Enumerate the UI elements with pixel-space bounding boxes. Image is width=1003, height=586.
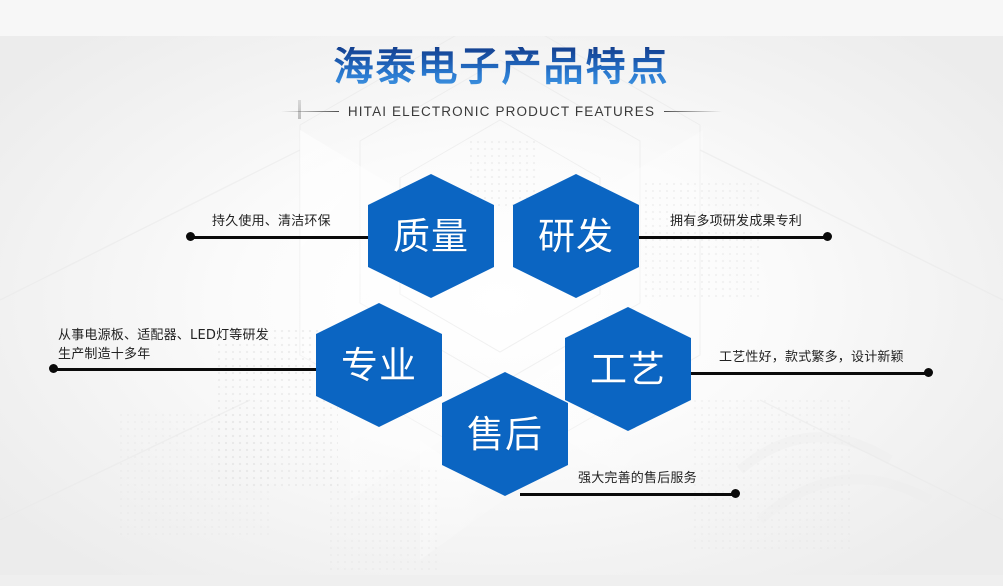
connector-line-service xyxy=(520,493,737,496)
caption-professional-line2: 生产制造十多年 xyxy=(58,345,269,364)
subtitle-rule-left xyxy=(281,111,339,112)
caption-professional: 从事电源板、适配器、LED灯等研发 生产制造十多年 xyxy=(58,326,269,364)
hexagon-professional[interactable]: 专业 xyxy=(316,303,442,427)
connector-dot-craft xyxy=(924,368,933,377)
caption-service: 强大完善的售后服务 xyxy=(578,470,697,488)
connector-dot-service xyxy=(731,489,740,498)
feature-diagram-canvas: 海泰电子产品特点 HITAI ELECTRONIC PRODUCT FEATUR… xyxy=(0,0,1003,586)
hexagon-craft[interactable]: 工艺 xyxy=(565,307,691,431)
caption-rnd: 拥有多项研发成果专利 xyxy=(670,213,802,231)
caption-craft: 工艺性好，款式繁多，设计新颖 xyxy=(719,349,904,367)
hexagon-label-rnd: 研发 xyxy=(538,218,614,255)
page-subtitle: HITAI ELECTRONIC PRODUCT FEATURES xyxy=(348,104,655,119)
connector-dot-quality xyxy=(186,232,195,241)
connector-line-professional xyxy=(57,368,337,371)
hexagon-label-service: 售后 xyxy=(467,416,543,453)
hexagon-rnd[interactable]: 研发 xyxy=(513,174,639,298)
subtitle-row: HITAI ELECTRONIC PRODUCT FEATURES xyxy=(0,104,1003,119)
hexagon-service[interactable]: 售后 xyxy=(442,372,568,496)
caption-quality: 持久使用、清洁环保 xyxy=(212,213,331,231)
hexagon-label-quality: 质量 xyxy=(393,218,469,255)
connector-dot-professional xyxy=(49,364,58,373)
subtitle-rule-right xyxy=(664,111,722,112)
hexagon-label-craft: 工艺 xyxy=(590,351,666,388)
hexagon-quality[interactable]: 质量 xyxy=(368,174,494,298)
connector-dot-rnd xyxy=(823,232,832,241)
caption-professional-line1: 从事电源板、适配器、LED灯等研发 xyxy=(58,326,269,345)
connector-line-quality xyxy=(191,236,387,239)
hexagon-label-professional: 专业 xyxy=(341,347,417,384)
connector-line-rnd xyxy=(627,236,829,239)
page-title: 海泰电子产品特点 xyxy=(0,47,1003,87)
connector-line-craft xyxy=(690,372,930,375)
